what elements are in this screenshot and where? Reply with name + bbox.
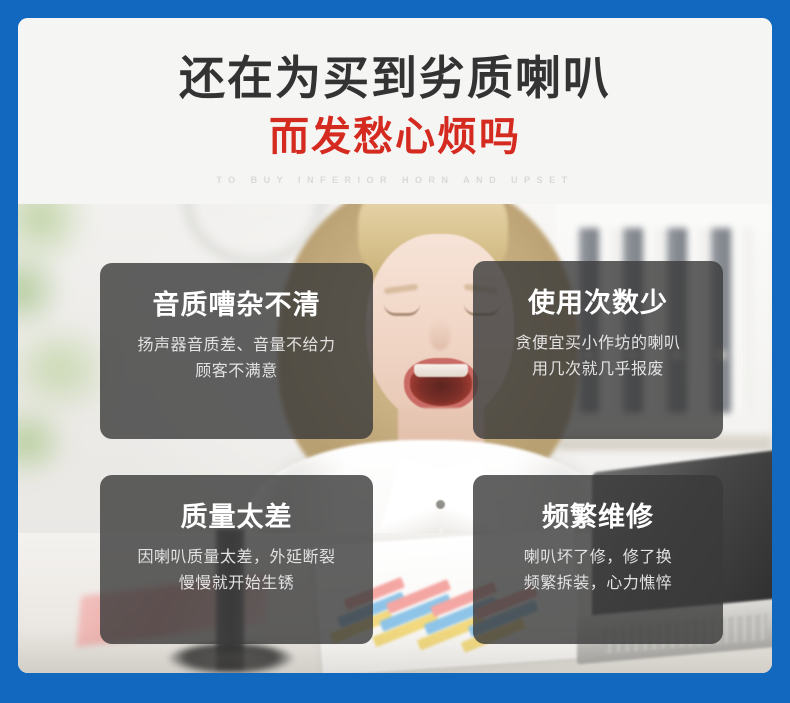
card-line: 因喇叭质量太差，外延断裂	[100, 545, 373, 571]
card-title: 使用次数少	[473, 287, 723, 319]
pain-point-card-grid: 音质嘈杂不清 扬声器音质差、音量不给力 顾客不满意 使用次数少 贪便宜买小作坊的…	[18, 18, 772, 673]
pain-point-card-4: 频繁维修 喇叭坏了修，修了换 频繁拆装，心力憔悴	[473, 475, 723, 644]
pain-point-card-2: 使用次数少 贪便宜买小作坊的喇叭 用几次就几乎报废	[473, 261, 723, 439]
card-line: 喇叭坏了修，修了换	[473, 545, 723, 571]
card-line: 扬声器音质差、音量不给力	[100, 333, 373, 359]
card-title: 质量太差	[100, 501, 373, 533]
card-line: 频繁拆装，心力憔悴	[473, 571, 723, 597]
card-title: 频繁维修	[473, 501, 723, 533]
pain-point-card-1: 音质嘈杂不清 扬声器音质差、音量不给力 顾客不满意	[100, 263, 373, 439]
card-line: 贪便宜买小作坊的喇叭	[473, 331, 723, 357]
pain-point-card-3: 质量太差 因喇叭质量太差，外延断裂 慢慢就开始生锈	[100, 475, 373, 644]
card-line: 慢慢就开始生锈	[100, 571, 373, 597]
card-line: 顾客不满意	[100, 359, 373, 385]
banner-canvas: 还在为买到劣质喇叭 而发愁心烦吗 TO BUY INFERIOR HORN AN…	[18, 18, 772, 673]
card-title: 音质嘈杂不清	[100, 289, 373, 321]
promo-banner: 还在为买到劣质喇叭 而发愁心烦吗 TO BUY INFERIOR HORN AN…	[0, 0, 790, 703]
card-line: 用几次就几乎报废	[473, 357, 723, 383]
